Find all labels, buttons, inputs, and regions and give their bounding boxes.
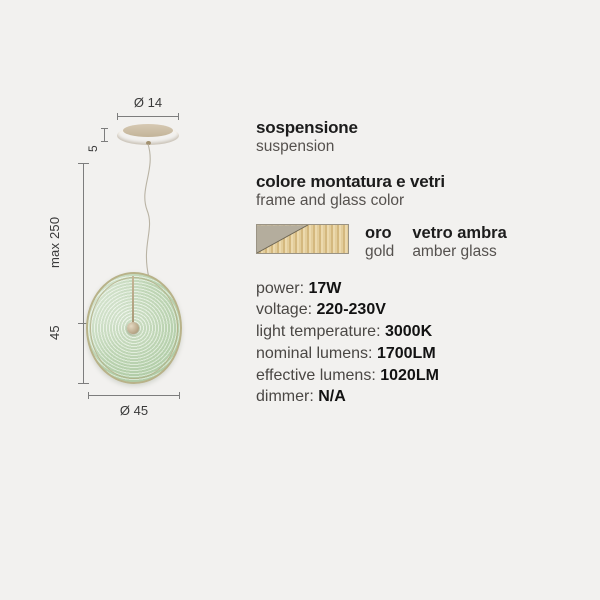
glass-finish: vetro ambra amber glass [412,224,506,261]
product-type-it: sospensione [256,118,586,138]
finish-swatch-row: oro gold vetro ambra amber glass [256,224,586,261]
frame-finish-en: gold [365,243,394,261]
max-drop-label: max 250 [47,217,62,268]
frame-finish: oro gold [365,224,394,261]
canopy-diameter-label: Ø 14 [117,95,179,110]
center-gold-hub [127,322,139,334]
spec-row: dimmer: N/A [256,386,586,408]
color-heading-it: colore montatura e vetri [256,172,586,192]
canopy-top-face [123,124,173,137]
spec-value: 220-230V [317,301,386,318]
canopy-height-marker [104,128,105,142]
product-information: sospensione suspension colore montatura … [256,118,586,408]
spec-value: 1700LM [377,345,436,362]
center-support-rod [132,276,134,325]
technical-drawing: Ø 14 5 max 250 45 Ø 45 [0,0,240,600]
swatch-divider-line [257,225,348,253]
product-type-en: suspension [256,138,586,157]
spec-row: effective lumens: 1020LM [256,365,586,387]
spec-label: dimmer: [256,388,314,405]
spec-row: light temperature: 3000K [256,321,586,343]
glass-disc-assembly [86,272,182,384]
suspension-cable [133,144,165,278]
vertical-dimension-line [83,163,84,383]
glass-finish-en: amber glass [412,243,506,261]
finish-swatch [256,224,349,254]
spec-value: 17W [308,280,341,297]
spec-label: light temperature: [256,323,381,340]
color-heading-en: frame and glass color [256,192,586,211]
spec-label: power: [256,280,304,297]
spec-value: 3000K [385,323,432,340]
spec-value: 1020LM [380,367,439,384]
glass-finish-it: vetro ambra [412,224,506,243]
spec-value: N/A [318,388,346,405]
spec-label: effective lumens: [256,367,376,384]
spec-label: nominal lumens: [256,345,373,362]
disc-height-label: 45 [47,325,62,340]
spec-row: voltage: 220-230V [256,299,586,321]
spec-label: voltage: [256,301,312,318]
frame-finish-it: oro [365,224,394,243]
spec-row: power: 17W [256,278,586,300]
finish-labels: oro gold vetro ambra amber glass [365,224,507,261]
spacer [256,157,586,172]
canopy-diameter-dimension-line [117,116,179,117]
canopy-height-label: 5 [86,145,100,152]
dimension-tick-top [78,163,89,164]
spec-row: nominal lumens: 1700LM [256,343,586,365]
disc-diameter-label: Ø 45 [88,403,180,418]
product-spec-sheet: Ø 14 5 max 250 45 Ø 45 sospensio [0,0,600,600]
specification-list: power: 17W voltage: 220-230V light tempe… [256,278,586,409]
disc-diameter-dimension-line [88,395,180,396]
